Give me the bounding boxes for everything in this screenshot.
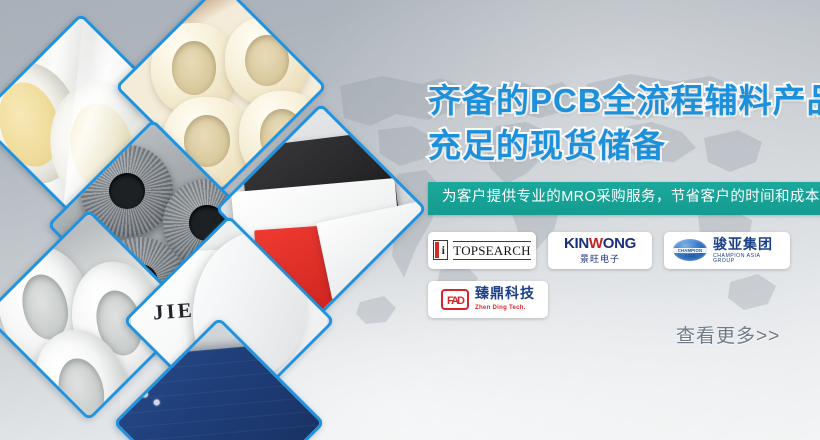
banner-headline: 齐备的PCB全流程辅料产品、 充足的现货储备 bbox=[428, 78, 820, 168]
logo-kinwong[interactable]: KINWONG 景旺电子 bbox=[548, 232, 652, 269]
zhen-ding-name-en: Zhen Ding Tech. bbox=[475, 305, 535, 311]
pet-sheet-print: JIE bbox=[152, 300, 195, 324]
banner-content: 齐备的PCB全流程辅料产品、 充足的现货储备 为客户提供专业的MRO采购服务，节… bbox=[428, 78, 820, 318]
kinwong-accent-letter: W bbox=[589, 235, 603, 252]
zhen-ding-mark-icon bbox=[441, 289, 469, 310]
kinwong-name-en: KINWONG bbox=[564, 235, 636, 252]
zhen-ding-name-cn: 臻鼎科技 bbox=[475, 288, 535, 302]
topsearch-mark-icon bbox=[433, 240, 448, 260]
kinwong-suffix: ONG bbox=[603, 235, 636, 252]
banner-subtitle: 为客户提供专业的MRO采购服务，节省客户的时间和成本 bbox=[428, 182, 820, 215]
champion-asia-name-en: CHAMPION ASIA GROUP bbox=[713, 254, 781, 264]
headline-line-1: 齐备的PCB全流程辅料产品、 bbox=[428, 82, 820, 119]
view-more-link[interactable]: 查看更多>> bbox=[676, 321, 780, 348]
partner-logo-row: TOPSEARCH KINWONG 景旺电子 CHAMPION ASIA 骏亚集… bbox=[428, 232, 803, 318]
champion-asia-name-cn: 骏亚集团 bbox=[713, 237, 781, 251]
kinwong-prefix: KIN bbox=[564, 235, 589, 252]
logo-champion-asia[interactable]: CHAMPION ASIA 骏亚集团 CHAMPION ASIA GROUP bbox=[664, 232, 790, 269]
promo-banner: JIE 齐备的PCB全流程辅料产品、 充足的 bbox=[0, 0, 820, 440]
globe-icon-text: CHAMPION ASIA bbox=[673, 248, 707, 258]
product-photo-collage: JIE bbox=[0, 0, 428, 440]
headline-line-2: 充足的现货储备 bbox=[428, 123, 820, 168]
logo-topsearch[interactable]: TOPSEARCH bbox=[428, 232, 536, 269]
globe-icon: CHAMPION ASIA bbox=[673, 239, 707, 261]
topsearch-name: TOPSEARCH bbox=[453, 241, 530, 260]
logo-zhen-ding[interactable]: 臻鼎科技 Zhen Ding Tech. bbox=[428, 281, 548, 318]
kinwong-name-cn: 景旺电子 bbox=[564, 255, 636, 264]
